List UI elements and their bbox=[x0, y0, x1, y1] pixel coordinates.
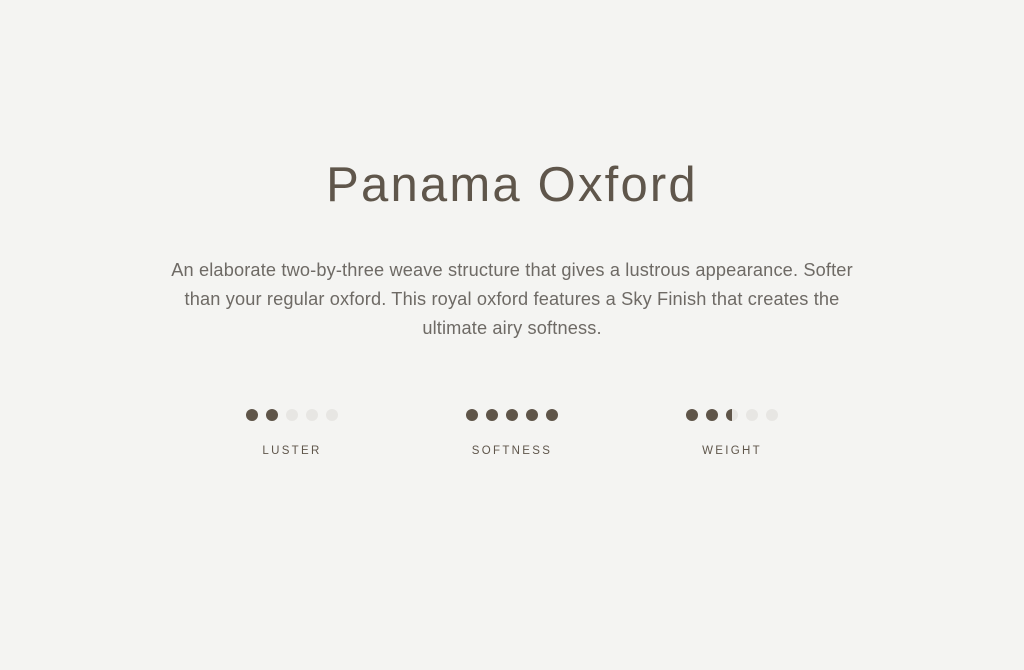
rating-label-luster: LUSTER bbox=[262, 445, 321, 457]
rating-group-weight: WEIGHT bbox=[622, 405, 842, 457]
rating-dot bbox=[466, 409, 478, 421]
rating-dot bbox=[286, 409, 298, 421]
product-description: An elaborate two-by-three weave structur… bbox=[162, 256, 862, 344]
rating-dot bbox=[246, 409, 258, 421]
rating-dot bbox=[266, 409, 278, 421]
rating-dot bbox=[506, 409, 518, 421]
rating-dot bbox=[746, 409, 758, 421]
rating-dot bbox=[526, 409, 538, 421]
ratings-row: LUSTER SOFTNESS WEIGHT bbox=[0, 405, 1024, 457]
rating-dots-softness bbox=[466, 405, 558, 425]
rating-dot bbox=[726, 409, 738, 421]
rating-dots-luster bbox=[246, 405, 338, 425]
rating-group-softness: SOFTNESS bbox=[402, 405, 622, 457]
rating-dot bbox=[546, 409, 558, 421]
rating-group-luster: LUSTER bbox=[182, 405, 402, 457]
rating-dots-weight bbox=[686, 405, 778, 425]
rating-dot bbox=[486, 409, 498, 421]
rating-label-softness: SOFTNESS bbox=[472, 445, 552, 457]
rating-dot bbox=[306, 409, 318, 421]
product-detail-panel: Panama Oxford An elaborate two-by-three … bbox=[0, 0, 1024, 670]
rating-dot bbox=[326, 409, 338, 421]
rating-dot bbox=[706, 409, 718, 421]
rating-dot bbox=[766, 409, 778, 421]
rating-label-weight: WEIGHT bbox=[702, 445, 762, 457]
page-title: Panama Oxford bbox=[0, 158, 1024, 213]
rating-dot bbox=[686, 409, 698, 421]
